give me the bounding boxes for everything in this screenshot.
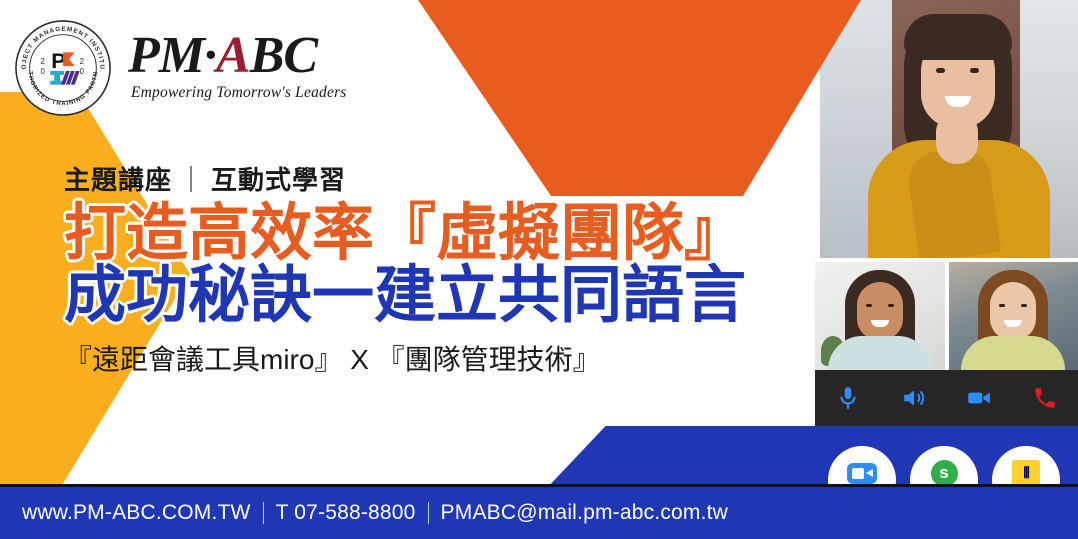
eye-right	[1021, 304, 1027, 307]
torso	[828, 336, 932, 370]
footer-email[interactable]: PMABC@mail.pm-abc.com.tw	[441, 501, 729, 525]
svg-text:2: 2	[80, 57, 84, 66]
eye-right	[888, 304, 894, 307]
face	[990, 282, 1036, 340]
eye-left	[936, 68, 945, 73]
eye-left	[866, 304, 872, 307]
footer-separator-1	[263, 502, 264, 524]
slido-icon: s	[931, 460, 958, 487]
pm-abc-logo: PM·ABC Empowering Tomorrow's Leaders	[128, 30, 347, 102]
video-tile-participant-3	[949, 262, 1078, 370]
video-tile-participant-2	[815, 262, 945, 370]
wordmark-a: A	[216, 27, 250, 84]
footer-phone[interactable]: T 07-588-8800	[276, 501, 416, 525]
svg-text:0: 0	[40, 67, 45, 76]
wordmark-dot: ·	[204, 27, 216, 84]
speaker-icon[interactable]	[901, 385, 927, 411]
pmi-atp-badge: PROJECT MANAGEMENT INSTITUTE AUTHORIZED …	[14, 19, 112, 117]
wordmark-bc: BC	[250, 27, 317, 84]
footer-bar: www.PM-ABC.COM.TW T 07-588-8800 PMABC@ma…	[0, 487, 1078, 539]
kicker-left: 主題講座	[64, 165, 172, 195]
call-control-bar[interactable]	[815, 370, 1078, 426]
headline-block: 主題講座｜互動式學習 打造高效率『虛擬團隊』 成功秘訣一建立共同語言 『遠距會議…	[64, 160, 784, 378]
eye-right	[970, 68, 979, 73]
miro-icon: ⦀	[1012, 460, 1040, 486]
video-tile-participant-main	[820, 0, 1078, 258]
kicker-separator: ｜	[172, 165, 211, 195]
footer-separator-2	[428, 502, 429, 524]
footer-contact-line: www.PM-ABC.COM.TW T 07-588-8800 PMABC@ma…	[22, 501, 728, 525]
brand-tagline: Empowering Tomorrow's Leaders	[131, 84, 347, 102]
face	[857, 282, 903, 340]
hand-on-chin	[936, 112, 978, 164]
microphone-icon[interactable]	[835, 385, 861, 411]
zoom-icon	[847, 463, 877, 484]
kicker-line: 主題講座｜互動式學習	[64, 160, 784, 197]
svg-text:2: 2	[40, 57, 44, 66]
headline-subline: 『遠距會議工具miro』 X 『團隊管理技術』	[64, 338, 784, 378]
end-call-icon[interactable]	[1032, 385, 1058, 411]
pm-abc-wordmark: PM·ABC	[128, 30, 347, 82]
svg-text:0: 0	[80, 67, 85, 76]
promotional-banner: PROJECT MANAGEMENT INSTITUTE AUTHORIZED …	[0, 0, 1078, 539]
eye-left	[999, 304, 1005, 307]
headline-line-2: 成功秘訣一建立共同語言	[64, 263, 784, 329]
kicker-right: 互動式學習	[211, 165, 346, 195]
video-tile-row	[815, 262, 1078, 370]
footer-website[interactable]: www.PM-ABC.COM.TW	[22, 501, 251, 525]
hair-front	[904, 14, 1012, 60]
headline-line-1: 打造高效率『虛擬團隊』	[64, 201, 784, 267]
camera-icon[interactable]	[966, 385, 992, 411]
torso	[961, 336, 1065, 370]
wordmark-pm: PM	[128, 27, 204, 84]
